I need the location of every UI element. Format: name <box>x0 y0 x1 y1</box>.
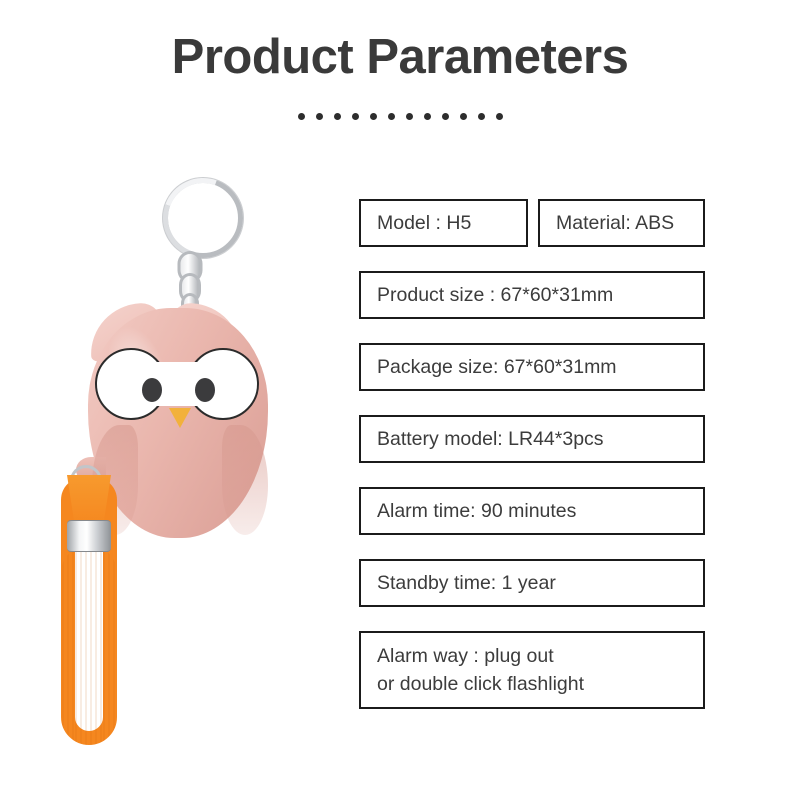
spec-row: Package size: 67*60*31mm <box>359 343 705 391</box>
owl-pupil-right <box>195 378 215 402</box>
spec-cell-package-size: Package size: 67*60*31mm <box>359 343 705 391</box>
spec-row: Alarm time: 90 minutes <box>359 487 705 535</box>
spec-row: Product size : 67*60*31mm <box>359 271 705 319</box>
decorative-dot-row <box>0 113 800 120</box>
key-ring-icon <box>163 178 243 258</box>
owl-pupil-left <box>142 378 162 402</box>
dot <box>496 113 503 120</box>
owl-beak-icon <box>169 408 191 428</box>
spec-cell-alarm-way: Alarm way : plug out or double click fla… <box>359 631 705 709</box>
spec-row: Alarm way : plug out or double click fla… <box>359 631 705 709</box>
spec-cell-alarm-way-line2: or double click flashlight <box>377 670 584 698</box>
dot <box>406 113 413 120</box>
spec-row: Standby time: 1 year <box>359 559 705 607</box>
spec-cell-product-size: Product size : 67*60*31mm <box>359 271 705 319</box>
spec-cell-standby-time: Standby time: 1 year <box>359 559 705 607</box>
dot <box>388 113 395 120</box>
dot <box>424 113 431 120</box>
dot <box>370 113 377 120</box>
dot <box>334 113 341 120</box>
spec-cell-model: Model : H5 <box>359 199 528 247</box>
dot <box>442 113 449 120</box>
dot <box>460 113 467 120</box>
spec-cell-material: Material: ABS <box>538 199 705 247</box>
product-image-owl-alarm-keychain <box>40 165 340 765</box>
dot <box>298 113 305 120</box>
spec-cell-alarm-way-line1: Alarm way : plug out <box>377 642 554 670</box>
wrist-strap-metal-crimp <box>67 520 111 552</box>
dot <box>478 113 485 120</box>
spec-table: Model : H5 Material: ABS Product size : … <box>359 199 705 733</box>
spec-cell-battery-model: Battery model: LR44*3pcs <box>359 415 705 463</box>
dot <box>316 113 323 120</box>
dot <box>352 113 359 120</box>
page-title: Product Parameters <box>0 32 800 83</box>
owl-eyes <box>95 348 261 420</box>
spec-row: Model : H5 Material: ABS <box>359 199 705 247</box>
spec-cell-alarm-time: Alarm time: 90 minutes <box>359 487 705 535</box>
spec-row: Battery model: LR44*3pcs <box>359 415 705 463</box>
